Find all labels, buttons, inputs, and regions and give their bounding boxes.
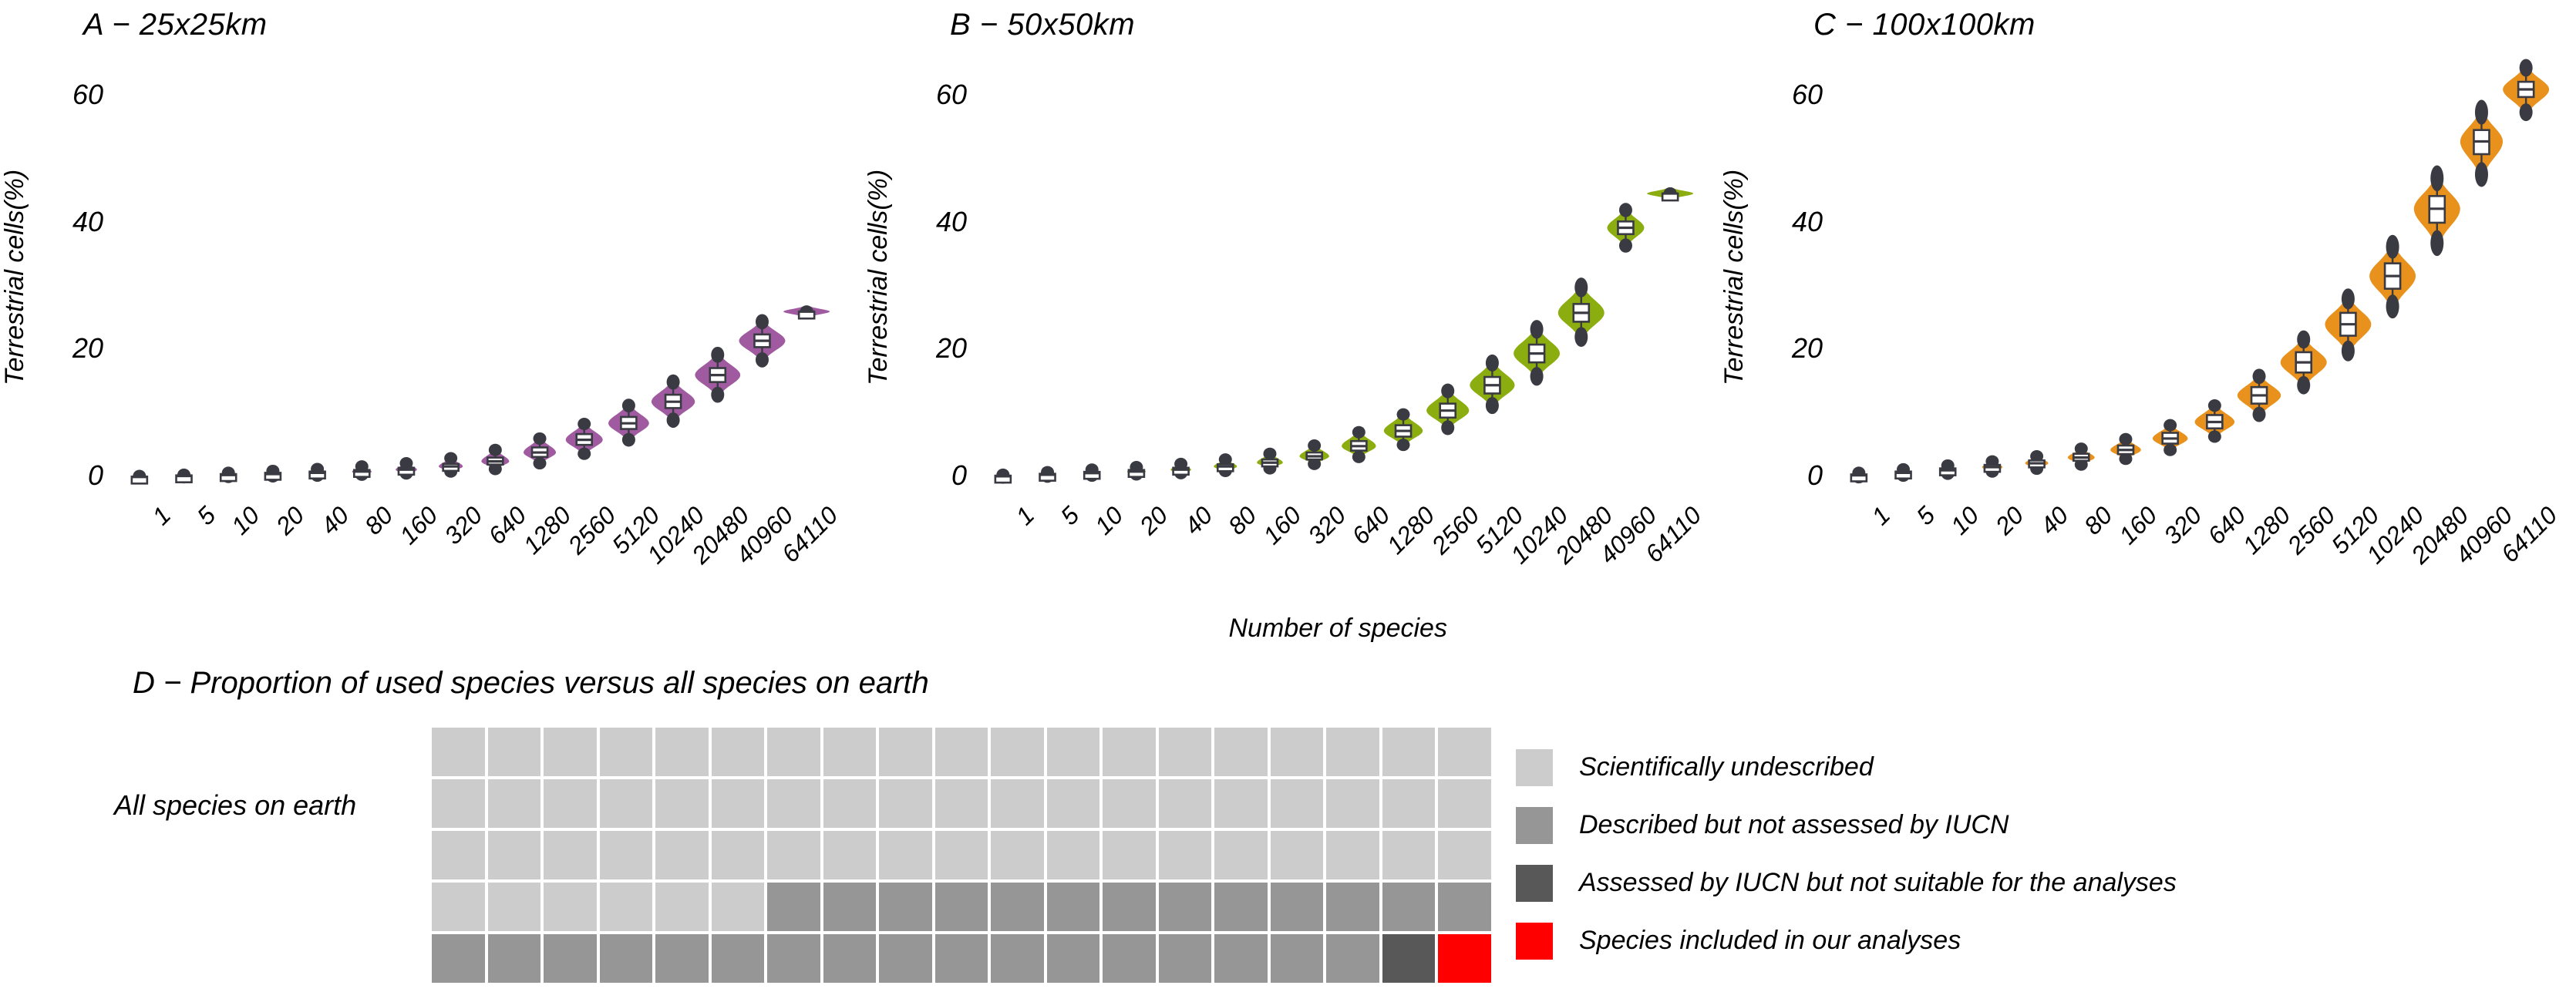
legend-label-included: Species included in our analyses <box>1579 926 1961 956</box>
waffle-cell-undescribed <box>767 728 820 776</box>
violin-1280 <box>1384 409 1423 452</box>
waffle-cell-undescribed <box>991 728 1044 776</box>
waffle-cell-described_not_assessed <box>1271 934 1324 983</box>
violin-20480 <box>2414 165 2460 256</box>
legend-label-described_not_assessed: Described but not assessed by IUCN <box>1579 810 2009 840</box>
y-tick-label-40: 40 <box>1753 206 1823 238</box>
waffle-cell-undescribed <box>712 831 765 879</box>
whisker-cap-upper <box>622 398 635 412</box>
violin-20 <box>1127 461 1146 480</box>
whisker-cap-lower <box>756 352 769 368</box>
panel-d-proportion-waffle: D − Proportion of used species versus al… <box>0 664 2576 992</box>
waffle-cell-undescribed <box>488 883 541 931</box>
waffle-cell-undescribed <box>544 779 597 828</box>
violin-40960 <box>739 314 785 368</box>
waffle-cell-undescribed <box>1382 728 1436 776</box>
y-tick-label-20: 20 <box>897 332 967 365</box>
violin-160 <box>396 457 417 479</box>
waffle-cell-undescribed <box>1326 728 1379 776</box>
violin-1 <box>132 470 147 484</box>
whisker-cap-upper <box>667 375 680 390</box>
violin-1280 <box>2238 368 2281 422</box>
legend-label-assessed_not_suitable: Assessed by IUCN but not suitable for th… <box>1579 868 2177 898</box>
y-tick-label-20: 20 <box>1753 332 1823 365</box>
waffle-cell-undescribed <box>1382 831 1436 879</box>
violin-64110 <box>783 305 830 318</box>
whisker-cap-lower <box>2164 444 2177 456</box>
violin-64110 <box>2503 59 2549 121</box>
waffle-cell-undescribed <box>600 728 653 776</box>
waffle-cell-undescribed <box>1382 779 1436 828</box>
waffle-cell-undescribed <box>544 883 597 931</box>
waffle-cell-undescribed <box>1214 728 1268 776</box>
whisker-cap-upper <box>1486 355 1499 372</box>
violin-1 <box>1851 466 1867 483</box>
whisker-cap-lower <box>2253 407 2266 422</box>
violin-2560 <box>2281 331 2327 395</box>
violin-1 <box>995 469 1011 484</box>
waffle-cell-described_not_assessed <box>432 934 485 983</box>
waffle-cell-undescribed <box>712 779 765 828</box>
whisker-cap-lower <box>2208 430 2221 442</box>
panel-c-100x100km: C − 100x100km 0204060Terrestrial cells(%… <box>1719 0 2576 671</box>
waffle-cell-undescribed <box>1103 831 1156 879</box>
violin-5 <box>177 469 192 483</box>
waffle-cell-undescribed <box>544 728 597 776</box>
waffle-cell-described_not_assessed <box>1047 883 1100 931</box>
whisker-cap-lower <box>534 457 547 469</box>
violin-10 <box>1083 463 1100 482</box>
waffle-cell-undescribed <box>488 728 541 776</box>
violin-640 <box>2195 399 2235 442</box>
violin-320 <box>1299 439 1328 470</box>
waffle-cell-undescribed <box>879 831 932 879</box>
waffle-cell-described_not_assessed <box>823 883 877 931</box>
violin-40960 <box>2460 100 2503 187</box>
violin-20 <box>264 465 281 483</box>
waffle-cell-undescribed <box>712 883 765 931</box>
waffle-cell-described_not_assessed <box>600 934 653 983</box>
waffle-cell-undescribed <box>879 779 932 828</box>
whisker-cap-upper <box>534 432 547 445</box>
waffle-cell-described_not_assessed <box>1271 883 1324 931</box>
y-tick-label-40: 40 <box>34 206 103 238</box>
y-axis-label: Terrestrial cells(%) <box>1719 170 1749 385</box>
whisker-cap-lower <box>1352 451 1365 463</box>
violin-640 <box>481 444 509 476</box>
waffle-cell-described_not_assessed <box>1214 934 1268 983</box>
waffle-cell-described_not_assessed <box>1214 883 1268 931</box>
legend-item-undescribed: Scientifically undescribed <box>1516 738 2177 796</box>
whisker-cap-upper <box>756 314 769 330</box>
violin-40 <box>2025 450 2049 475</box>
waffle-cell-undescribed <box>1438 831 1491 879</box>
y-tick-label-40: 40 <box>897 206 967 238</box>
panel-b-50x50km: B − 50x50km 0204060Terrestrial cells(%)1… <box>864 0 1735 671</box>
waffle-cell-assessed_not_suitable <box>1382 934 1436 983</box>
waffle-cell-undescribed <box>432 728 485 776</box>
waffle-cell-undescribed <box>432 883 485 931</box>
legend-swatch-included <box>1516 923 1553 960</box>
whisker-cap-lower <box>2430 230 2443 256</box>
violin-2560 <box>566 418 603 460</box>
whisker-cap-lower <box>1397 439 1410 451</box>
waffle-cell-undescribed <box>1047 831 1100 879</box>
violin-10240 <box>1514 320 1560 385</box>
violin-10240 <box>2369 235 2416 318</box>
waffle-cell-undescribed <box>655 728 709 776</box>
violin-10240 <box>652 375 695 428</box>
waffle-cell-undescribed <box>1214 831 1268 879</box>
whisker-cap-upper <box>489 444 502 456</box>
waffle-grid <box>432 728 1491 983</box>
waffle-cell-described_not_assessed <box>823 934 877 983</box>
y-tick-label-0: 0 <box>1753 459 1823 492</box>
whisker-cap-lower <box>2386 294 2399 318</box>
waffle-cell-described_not_assessed <box>1159 934 1212 983</box>
waffle-cell-described_not_assessed <box>1326 934 1379 983</box>
waffle-cell-described_not_assessed <box>991 883 1044 931</box>
waffle-row-label: All species on earth <box>114 789 356 822</box>
waffle-legend: Scientifically undescribedDescribed but … <box>1516 738 2177 970</box>
waffle-cell-undescribed <box>432 779 485 828</box>
whisker-cap-lower <box>622 433 635 447</box>
waffle-cell-undescribed <box>823 728 877 776</box>
violin-20480 <box>1558 277 1605 347</box>
y-axis-label: Terrestrial cells(%) <box>0 170 30 385</box>
violin-80 <box>2068 442 2095 471</box>
violin-5120 <box>608 398 649 446</box>
legend-item-assessed_not_suitable: Assessed by IUCN but not suitable for th… <box>1516 854 2177 912</box>
waffle-cell-included <box>1438 934 1491 983</box>
violin-640 <box>1342 426 1376 463</box>
waffle-cell-described_not_assessed <box>712 934 765 983</box>
waffle-cell-described_not_assessed <box>879 934 932 983</box>
waffle-cell-undescribed <box>767 831 820 879</box>
violin-320 <box>439 452 463 477</box>
waffle-cell-described_not_assessed <box>655 934 709 983</box>
waffle-cell-undescribed <box>488 831 541 879</box>
legend-swatch-assessed_not_suitable <box>1516 865 1553 902</box>
waffle-cell-described_not_assessed <box>1103 883 1156 931</box>
waffle-cell-undescribed <box>1159 831 1212 879</box>
legend-item-described_not_assessed: Described but not assessed by IUCN <box>1516 796 2177 854</box>
whisker-cap-upper <box>444 452 457 464</box>
y-tick-label-60: 60 <box>897 79 967 111</box>
whisker-cap-lower <box>1441 420 1454 435</box>
waffle-cell-described_not_assessed <box>879 883 932 931</box>
whisker-cap-lower <box>1530 367 1544 385</box>
panel-d-title: D − Proportion of used species versus al… <box>133 666 929 701</box>
waffle-cell-described_not_assessed <box>1438 883 1491 931</box>
violin-1280 <box>524 432 556 469</box>
whisker-cap-upper <box>577 418 591 430</box>
violin-64110 <box>1647 187 1693 200</box>
legend-swatch-undescribed <box>1516 749 1553 786</box>
whisker-cap-upper <box>2386 235 2399 259</box>
waffle-cell-undescribed <box>600 831 653 879</box>
waffle-cell-undescribed <box>544 831 597 879</box>
whisker-cap-lower <box>667 412 680 428</box>
waffle-cell-undescribed <box>1103 779 1156 828</box>
waffle-cell-described_not_assessed <box>991 934 1044 983</box>
waffle-cell-described_not_assessed <box>1103 934 1156 983</box>
violin-10 <box>1939 459 1957 480</box>
violin-5 <box>1040 466 1056 483</box>
waffle-cell-undescribed <box>1047 728 1100 776</box>
whisker-cap-upper <box>2164 419 2177 432</box>
waffle-cell-undescribed <box>823 831 877 879</box>
whisker-cap-upper <box>711 347 724 363</box>
waffle-cell-undescribed <box>1159 728 1212 776</box>
y-tick-label-0: 0 <box>34 459 103 492</box>
whisker-cap-lower <box>2520 103 2533 121</box>
waffle-cell-described_not_assessed <box>1326 883 1379 931</box>
violin-320 <box>2153 419 2188 456</box>
whisker-cap-upper <box>2253 368 2266 384</box>
waffle-cell-undescribed <box>935 728 988 776</box>
violin-5120 <box>1470 355 1514 414</box>
whisker-cap-upper <box>1308 439 1321 452</box>
whisker-cap-upper <box>2297 331 2310 349</box>
waffle-cell-undescribed <box>879 728 932 776</box>
violin-5 <box>1895 463 1911 482</box>
whisker-cap-upper <box>1263 448 1276 460</box>
whisker-cap-lower <box>2297 376 2310 395</box>
waffle-cell-undescribed <box>767 779 820 828</box>
whisker-cap-upper <box>2208 399 2221 412</box>
waffle-cell-undescribed <box>655 779 709 828</box>
waffle-cell-undescribed <box>1326 831 1379 879</box>
whisker-cap-upper <box>2342 288 2355 309</box>
waffle-cell-undescribed <box>600 883 653 931</box>
whisker-cap-lower <box>1486 397 1499 414</box>
whisker-cap-upper <box>1397 409 1410 421</box>
violin-2560 <box>1426 384 1469 435</box>
whisker-cap-lower <box>1619 238 1632 252</box>
waffle-cell-undescribed <box>823 779 877 828</box>
whisker-cap-upper <box>1441 384 1454 398</box>
waffle-cell-undescribed <box>1271 779 1324 828</box>
y-tick-label-60: 60 <box>34 79 103 111</box>
waffle-cell-described_not_assessed <box>1382 883 1436 931</box>
violin-80 <box>352 460 372 481</box>
whisker-cap-upper <box>1574 277 1588 298</box>
waffle-cell-undescribed <box>935 831 988 879</box>
whisker-cap-lower <box>711 387 724 403</box>
violin-5120 <box>2325 288 2371 361</box>
waffle-cell-undescribed <box>991 831 1044 879</box>
violin-20480 <box>695 347 740 403</box>
whisker-cap-lower <box>577 448 591 460</box>
whisker-cap-lower <box>2475 162 2488 187</box>
waffle-cell-undescribed <box>1214 779 1268 828</box>
violin-10 <box>221 466 236 483</box>
waffle-cell-undescribed <box>488 779 541 828</box>
y-tick-label-20: 20 <box>34 332 103 365</box>
waffle-cell-undescribed <box>1438 779 1491 828</box>
y-axis-label: Terrestrial cells(%) <box>864 170 894 385</box>
waffle-cell-undescribed <box>1271 728 1324 776</box>
waffle-cell-undescribed <box>1159 779 1212 828</box>
whisker-cap-upper <box>1530 320 1544 338</box>
waffle-cell-undescribed <box>1326 779 1379 828</box>
waffle-cell-undescribed <box>1103 728 1156 776</box>
violin-40960 <box>1607 203 1644 253</box>
waffle-cell-undescribed <box>655 831 709 879</box>
panel-a-25x25km: A − 25x25km 0204060Terrestrial cells(%)1… <box>0 0 871 671</box>
whisker-cap-upper <box>1352 426 1365 439</box>
waffle-cell-undescribed <box>712 728 765 776</box>
violin-80 <box>1214 453 1237 477</box>
whisker-cap-upper <box>2430 165 2443 191</box>
waffle-cell-undescribed <box>1438 728 1491 776</box>
violin-20 <box>1982 456 2002 478</box>
legend-item-included: Species included in our analyses <box>1516 912 2177 970</box>
violin-160 <box>1257 448 1283 475</box>
whisker-cap-upper <box>1619 203 1632 217</box>
whisker-cap-lower <box>1574 327 1588 347</box>
waffle-cell-described_not_assessed <box>767 934 820 983</box>
whisker-cap-upper <box>2475 100 2488 125</box>
violin-40 <box>308 462 326 482</box>
waffle-cell-described_not_assessed <box>935 883 988 931</box>
waffle-cell-undescribed <box>935 779 988 828</box>
whisker-cap-upper <box>2119 433 2132 446</box>
waffle-cell-undescribed <box>655 883 709 931</box>
waffle-cell-undescribed <box>600 779 653 828</box>
waffle-cell-undescribed <box>1047 779 1100 828</box>
waffle-cell-described_not_assessed <box>488 934 541 983</box>
legend-swatch-described_not_assessed <box>1516 807 1553 844</box>
legend-label-undescribed: Scientifically undescribed <box>1579 752 1874 782</box>
whisker-cap-lower <box>2342 341 2355 361</box>
whisker-cap-upper <box>2520 59 2533 76</box>
waffle-cell-described_not_assessed <box>767 883 820 931</box>
waffle-cell-undescribed <box>1271 831 1324 879</box>
y-tick-label-0: 0 <box>897 459 967 492</box>
violin-40 <box>1170 458 1190 479</box>
violin-160 <box>2110 433 2141 466</box>
waffle-cell-described_not_assessed <box>1159 883 1212 931</box>
waffle-cell-undescribed <box>991 779 1044 828</box>
waffle-cell-undescribed <box>432 831 485 879</box>
x-axis-label: Number of species <box>1229 614 1447 644</box>
y-tick-label-60: 60 <box>1753 79 1823 111</box>
waffle-cell-described_not_assessed <box>935 934 988 983</box>
waffle-cell-described_not_assessed <box>1047 934 1100 983</box>
waffle-cell-described_not_assessed <box>544 934 597 983</box>
